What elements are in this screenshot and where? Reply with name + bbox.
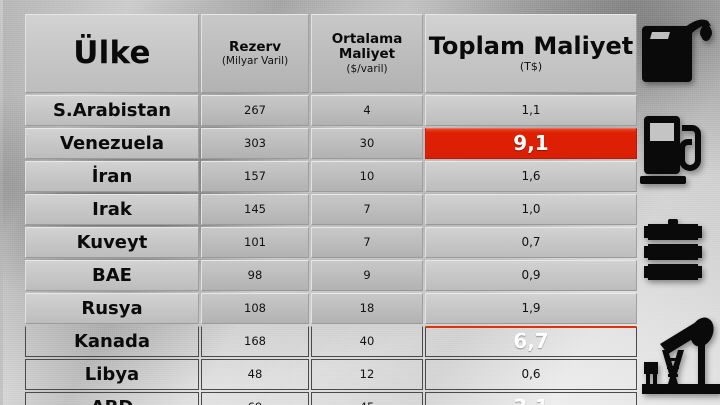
value-country: S.Arabistan — [53, 100, 171, 121]
cell-reserve: 145 — [201, 194, 309, 225]
value-total-cost: 1,6 — [521, 169, 540, 183]
pumpjack-icon — [640, 310, 720, 398]
value-reserve: 108 — [244, 301, 266, 315]
cell-avg-cost: 4 — [311, 95, 423, 126]
oil-barrel-icon — [640, 218, 706, 286]
value-reserve: 267 — [244, 103, 266, 117]
cell-reserve: 69 — [201, 392, 309, 405]
value-avg-cost: 9 — [363, 268, 370, 282]
value-avg-cost: 7 — [363, 235, 370, 249]
cell-country: Kuveyt — [25, 227, 199, 258]
cell-total-cost-ruled: 6,7 — [425, 326, 637, 357]
cell-reserve: 98 — [201, 260, 309, 291]
cell-reserve: 267 — [201, 95, 309, 126]
jerry-can-icon — [640, 8, 716, 86]
value-total-cost: 1,9 — [521, 301, 540, 315]
table-row: ABD 69 45 3,1 — [25, 392, 637, 405]
cell-avg-cost: 10 — [311, 161, 423, 192]
table-row: İran 157 10 1,6 — [25, 161, 637, 192]
header-total-cost-unit: (T$) — [426, 61, 636, 74]
cell-avg-cost: 40 — [311, 326, 423, 357]
cell-country: Rusya — [25, 293, 199, 324]
cell-country: BAE — [25, 260, 199, 291]
cell-reserve: 101 — [201, 227, 309, 258]
header-reserve-title: Rezerv — [202, 40, 308, 55]
header-avg-cost-unit: ($/varil) — [312, 63, 422, 75]
table-row: Rusya 108 18 1,9 — [25, 293, 637, 324]
header-country-title: Ülke — [26, 37, 198, 70]
value-avg-cost: 45 — [360, 400, 375, 405]
header-total-cost-title: Toplam Maliyet — [426, 34, 636, 60]
cell-country: Libya — [25, 359, 199, 390]
value-total-cost: 9,1 — [513, 131, 548, 155]
fuel-pump-icon — [640, 108, 710, 186]
value-total-cost: 1,0 — [521, 202, 540, 216]
cell-avg-cost: 9 — [311, 260, 423, 291]
table-row: Libya 48 12 0,6 — [25, 359, 637, 390]
cell-avg-cost: 45 — [311, 392, 423, 405]
table-row: Kanada 168 40 6,7 — [25, 326, 637, 357]
table-row: Kuveyt 101 7 0,7 — [25, 227, 637, 258]
table-header-row: Ülke Rezerv (Milyar Varil) Ortalama Mali… — [25, 14, 637, 93]
value-total-cost: 6,7 — [513, 329, 548, 353]
cell-reserve: 48 — [201, 359, 309, 390]
cell-total-cost: 0,6 — [425, 359, 637, 390]
value-reserve: 145 — [244, 202, 266, 216]
value-total-cost: 0,7 — [521, 235, 540, 249]
table-row: Irak 145 7 1,0 — [25, 194, 637, 225]
table-row: BAE 98 9 0,9 — [25, 260, 637, 291]
value-reserve: 168 — [244, 334, 266, 348]
cell-total-cost: 0,7 — [425, 227, 637, 258]
cell-total-cost: 1,1 — [425, 95, 637, 126]
value-avg-cost: 7 — [363, 202, 370, 216]
cell-total-cost: 1,9 — [425, 293, 637, 324]
header-cell-total-cost: Toplam Maliyet (T$) — [425, 14, 637, 93]
cell-avg-cost: 30 — [311, 128, 423, 159]
cell-country: ABD — [25, 392, 199, 405]
value-country: Irak — [92, 199, 132, 220]
value-reserve: 69 — [248, 400, 263, 405]
value-avg-cost: 18 — [360, 301, 375, 315]
icon-strip — [632, 0, 720, 405]
value-total-cost: 0,9 — [521, 268, 540, 282]
value-avg-cost: 40 — [360, 334, 375, 348]
oil-reserves-table: Ülke Rezerv (Milyar Varil) Ortalama Mali… — [23, 12, 639, 405]
value-reserve: 98 — [248, 268, 263, 282]
value-total-cost: 0,6 — [521, 367, 540, 381]
value-avg-cost: 4 — [363, 103, 370, 117]
left-edge-rail — [0, 0, 3, 405]
value-country: Libya — [85, 364, 139, 385]
cell-total-cost-highlighted: 9,1 — [425, 128, 637, 159]
cell-total-cost: 0,9 — [425, 260, 637, 291]
value-avg-cost: 10 — [360, 169, 375, 183]
header-avg-cost-title: Ortalama Maliyet — [312, 32, 422, 61]
value-avg-cost: 30 — [360, 136, 375, 150]
value-avg-cost: 12 — [360, 367, 375, 381]
cell-country: Kanada — [25, 326, 199, 357]
cell-avg-cost: 18 — [311, 293, 423, 324]
cell-avg-cost: 7 — [311, 194, 423, 225]
value-country: Rusya — [81, 298, 142, 319]
cell-avg-cost: 7 — [311, 227, 423, 258]
cell-reserve: 108 — [201, 293, 309, 324]
cell-total-cost: 1,0 — [425, 194, 637, 225]
value-country: Kuveyt — [77, 232, 148, 253]
header-cell-country: Ülke — [25, 14, 199, 93]
cell-country: İran — [25, 161, 199, 192]
value-country: Kanada — [74, 331, 150, 352]
header-cell-avg-cost: Ortalama Maliyet ($/varil) — [311, 14, 423, 93]
header-cell-reserve: Rezerv (Milyar Varil) — [201, 14, 309, 93]
cell-avg-cost: 12 — [311, 359, 423, 390]
cell-total-cost: 1,6 — [425, 161, 637, 192]
cell-reserve: 303 — [201, 128, 309, 159]
cell-country: Venezuela — [25, 128, 199, 159]
value-reserve: 303 — [244, 136, 266, 150]
cell-country: S.Arabistan — [25, 95, 199, 126]
cell-country: Irak — [25, 194, 199, 225]
value-reserve: 157 — [244, 169, 266, 183]
value-total-cost: 1,1 — [521, 103, 540, 117]
value-country: Venezuela — [60, 133, 164, 154]
value-country: ABD — [91, 397, 134, 405]
cell-total-cost: 3,1 — [425, 392, 637, 405]
value-reserve: 101 — [244, 235, 266, 249]
value-total-cost: 3,1 — [513, 395, 548, 405]
table-row: Venezuela 303 30 9,1 — [25, 128, 637, 159]
cell-reserve: 157 — [201, 161, 309, 192]
value-reserve: 48 — [248, 367, 263, 381]
value-country: İran — [92, 166, 133, 187]
table-row: S.Arabistan 267 4 1,1 — [25, 95, 637, 126]
value-country: BAE — [92, 265, 132, 286]
cell-reserve: 168 — [201, 326, 309, 357]
header-reserve-unit: (Milyar Varil) — [202, 55, 308, 67]
